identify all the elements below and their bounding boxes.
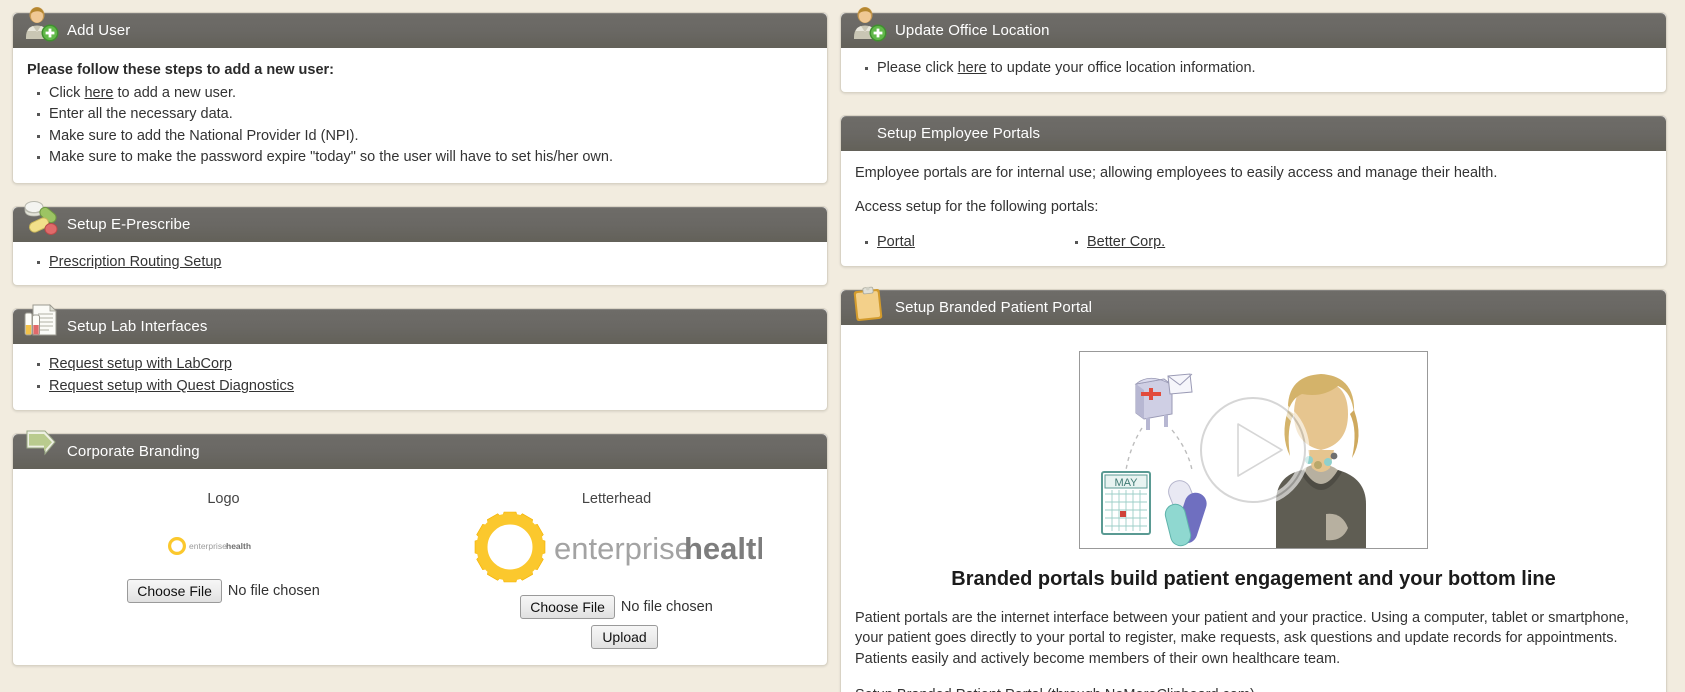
list-item: Make sure to add the National Provider I… [49, 126, 813, 147]
panel-header-add-user: Add User [13, 13, 827, 48]
logo-file-status: No file chosen [228, 581, 320, 602]
panel-add-user: Add User Please follow these steps to ad… [12, 12, 828, 184]
panel-title-employee-portals: Setup Employee Portals [841, 125, 1040, 142]
lab-document-icon [17, 301, 63, 343]
employee-portals-access-line: Access setup for the following portals: [855, 197, 1652, 218]
panel-body-eprescribe: Prescription Routing Setup [13, 242, 827, 286]
panel-title-lab-interfaces: Setup Lab Interfaces [63, 318, 207, 335]
logo-choose-file-button[interactable]: Choose File [127, 579, 222, 603]
panel-body-add-user: Please follow these steps to add a new u… [13, 48, 827, 183]
update-office-location-link[interactable]: here [958, 60, 987, 76]
panel-update-office-location: Update Office Location Please click here… [840, 12, 1667, 93]
list-item: Portal [877, 232, 1087, 253]
list-item: Click here to add a new user. [49, 83, 813, 104]
video-thumbnail-wrap: MAY [855, 351, 1652, 549]
logo-label: Logo [27, 489, 420, 510]
setup-branded-patient-portal-link[interactable]: Setup Branded Patient Portal (through No… [855, 687, 1255, 692]
panel-body-employee-portals: Employee portals are for internal use; a… [841, 151, 1666, 267]
panel-header-lab-interfaces: Setup Lab Interfaces [13, 309, 827, 344]
panel-title-eprescribe: Setup E-Prescribe [63, 216, 190, 233]
clipboard-icon [845, 282, 891, 324]
list-item: Request setup with Quest Diagnostics [49, 376, 813, 397]
office-text-after: to update your office location informati… [987, 60, 1256, 76]
panel-header-update-office-location: Update Office Location [841, 13, 1666, 48]
panel-setup-eprescribe: Setup E-Prescribe Prescription Routing S… [12, 206, 828, 287]
add-user-icon [845, 5, 891, 47]
green-arrow-icon [17, 425, 63, 467]
panel-body-lab-interfaces: Request setup with LabCorp Request setup… [13, 344, 827, 409]
pills-icon [17, 198, 63, 240]
office-text-before: Please click [877, 60, 958, 76]
portal-link[interactable]: Portal [877, 234, 915, 250]
svg-text:MAY: MAY [1114, 477, 1138, 489]
left-column: Add User Please follow these steps to ad… [0, 0, 840, 688]
list-item: Please click here to update your office … [877, 58, 1652, 79]
logo-preview-small: enterprise health [27, 523, 420, 569]
list-item: Request setup with LabCorp [49, 354, 813, 375]
svg-text:health: health [226, 541, 251, 551]
request-setup-labcorp-link[interactable]: Request setup with LabCorp [49, 356, 232, 372]
panel-setup-employee-portals: Setup Employee Portals Employee portals … [840, 115, 1667, 268]
add-user-icon [17, 5, 63, 47]
panel-header-employee-portals: Setup Employee Portals [841, 116, 1666, 151]
panel-body-update-office-location: Please click here to update your office … [841, 48, 1666, 92]
eprescribe-links-list: Prescription Routing Setup [27, 252, 813, 273]
upload-button[interactable]: Upload [591, 625, 657, 649]
enterprisehealth-logo-large-icon: enterprise health [472, 508, 762, 586]
enterprisehealth-logo-small-icon: enterprise health [166, 535, 281, 557]
panel-title-add-user: Add User [63, 22, 130, 39]
svg-text:health: health [684, 531, 762, 566]
letterhead-label: Letterhead [420, 489, 813, 510]
upload-row: Upload [420, 625, 813, 649]
employee-portals-links: Portal Better Corp. [855, 232, 1652, 253]
svg-text:enterprise: enterprise [554, 531, 692, 566]
panel-body-corporate-branding: Logo enterprise health Choose Fi [13, 469, 827, 666]
panel-header-eprescribe: Setup E-Prescribe [13, 207, 827, 242]
practice-setup-page: Add User Please follow these steps to ad… [0, 0, 1685, 692]
step-text-before: Click [49, 85, 84, 101]
panel-title-branded-patient-portal: Setup Branded Patient Portal [891, 299, 1092, 316]
office-location-list: Please click here to update your office … [855, 58, 1652, 79]
list-item: Enter all the necessary data. [49, 104, 813, 125]
list-item: Prescription Routing Setup [49, 252, 813, 273]
letterhead-file-status: No file chosen [621, 597, 713, 618]
add-new-user-link[interactable]: here [84, 85, 113, 101]
prescription-routing-setup-link[interactable]: Prescription Routing Setup [49, 254, 222, 270]
letterhead-choose-file-button[interactable]: Choose File [520, 595, 615, 619]
calendar-graphic: MAY [1102, 472, 1150, 534]
letterhead-preview-large: enterprise health [420, 509, 813, 585]
panel-header-corporate-branding: Corporate Branding [13, 434, 827, 469]
panel-header-branded-patient-portal: Setup Branded Patient Portal [841, 290, 1666, 325]
right-column: Update Office Location Please click here… [840, 0, 1685, 692]
branding-grid: Logo enterprise health Choose Fi [27, 481, 813, 652]
panel-branded-patient-portal: Setup Branded Patient Portal [840, 289, 1667, 692]
employee-portals-intro: Employee portals are for internal use; a… [855, 163, 1652, 184]
branding-letterhead-cell: Letterhead [420, 489, 813, 650]
better-corp-link[interactable]: Better Corp. [1087, 234, 1165, 250]
list-item: Make sure to make the password expire "t… [49, 147, 813, 168]
branding-logo-cell: Logo enterprise health Choose Fi [27, 489, 420, 650]
portal-headline: Branded portals build patient engagement… [855, 565, 1652, 593]
list-item: Better Corp. [1087, 232, 1297, 253]
video-thumbnail[interactable]: MAY [1079, 351, 1428, 549]
logo-file-row: Choose File No file chosen [27, 579, 420, 603]
add-user-steps-list: Click here to add a new user. Enter all … [27, 83, 813, 168]
panel-title-corporate-branding: Corporate Branding [63, 443, 200, 460]
lab-links-list: Request setup with LabCorp Request setup… [27, 354, 813, 396]
portal-link-row: Setup Branded Patient Portal (through No… [855, 685, 1652, 692]
letterhead-file-row: Choose File No file chosen [420, 595, 813, 619]
panel-setup-lab-interfaces: Setup Lab Interfaces Request setup with … [12, 308, 828, 410]
request-setup-quest-link[interactable]: Request setup with Quest Diagnostics [49, 378, 294, 394]
add-user-lead: Please follow these steps to add a new u… [27, 60, 813, 81]
portal-body-copy: Patient portals are the internet interfa… [855, 608, 1652, 670]
svg-text:enterprise: enterprise [189, 541, 227, 551]
panel-corporate-branding: Corporate Branding Logo enterprise healt [12, 433, 828, 667]
step-text-after: to add a new user. [113, 85, 236, 101]
panel-title-update-office-location: Update Office Location [891, 22, 1050, 39]
panel-body-branded-patient-portal: MAY [841, 325, 1666, 692]
